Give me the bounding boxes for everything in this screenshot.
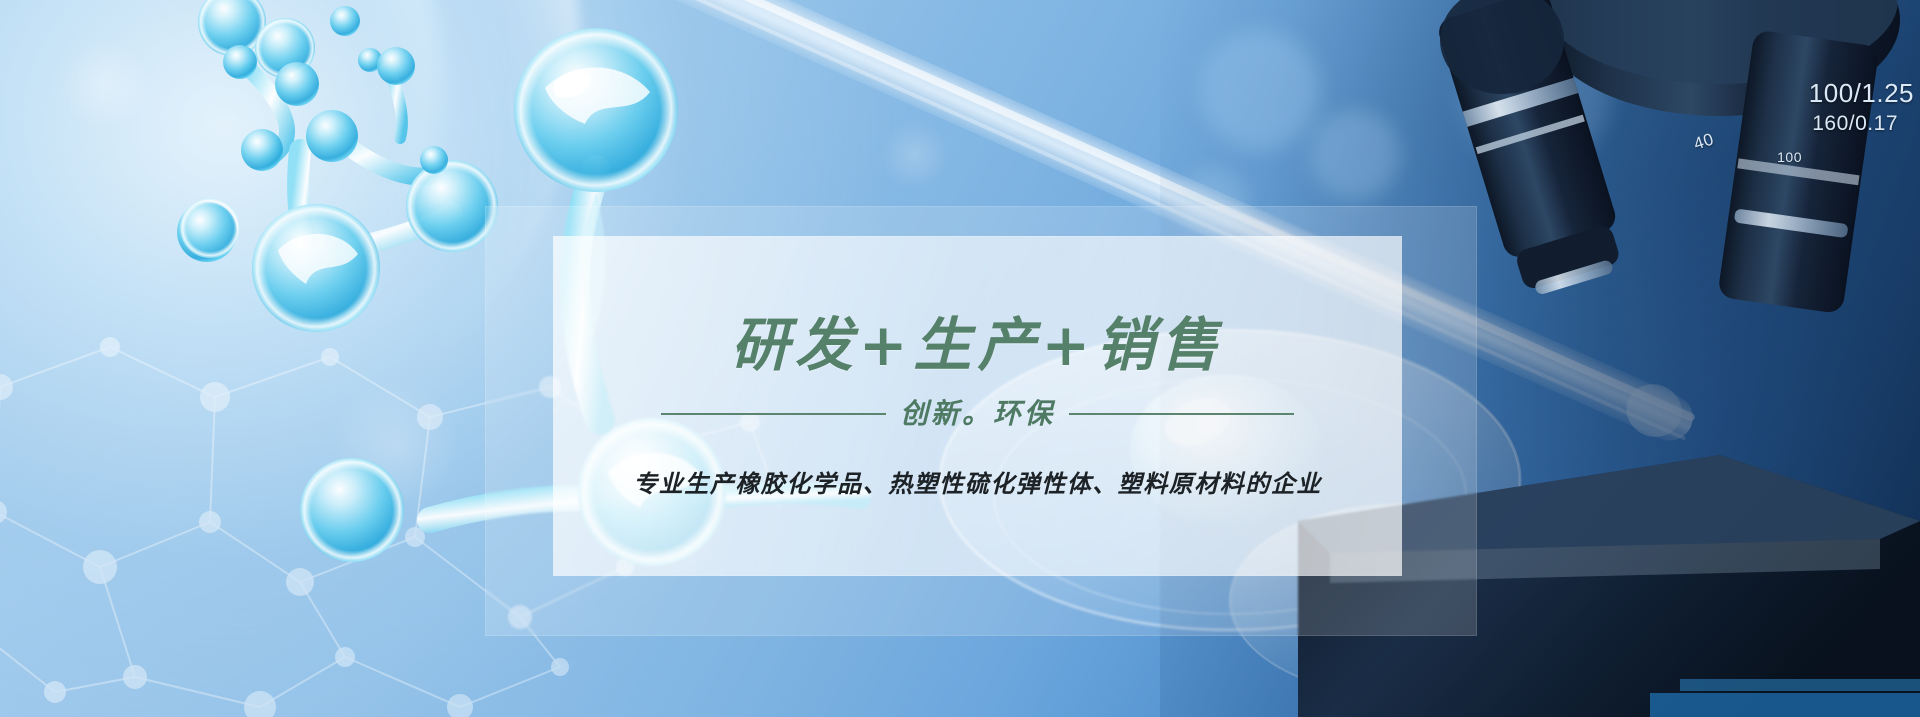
hero-subtitle: 创新。环保 (886, 400, 1069, 428)
hero-copy-block: 研发+生产+销售 创新。环保 专业生产橡胶化学品、热塑性硫化弹性体、塑料原材料的… (553, 236, 1402, 576)
objective-marking-100-125: 100/1.25 (1809, 78, 1914, 109)
hero-description: 专业生产橡胶化学品、热塑性硫化弹性体、塑料原材料的企业 (633, 472, 1322, 496)
subtitle-rule-left (661, 413, 886, 415)
hero-headline: 研发+生产+销售 (731, 316, 1224, 374)
objective-marking-160-017: 160/0.17 (1812, 112, 1898, 136)
hero-subtitle-row: 创新。环保 (553, 400, 1402, 428)
subtitle-rule-right (1069, 413, 1294, 415)
hero-banner: 100/1.25 160/0.17 40 100 研发+生产+销售 创新。环保 … (0, 0, 1920, 717)
objective-marking-100: 100 (1777, 149, 1802, 165)
